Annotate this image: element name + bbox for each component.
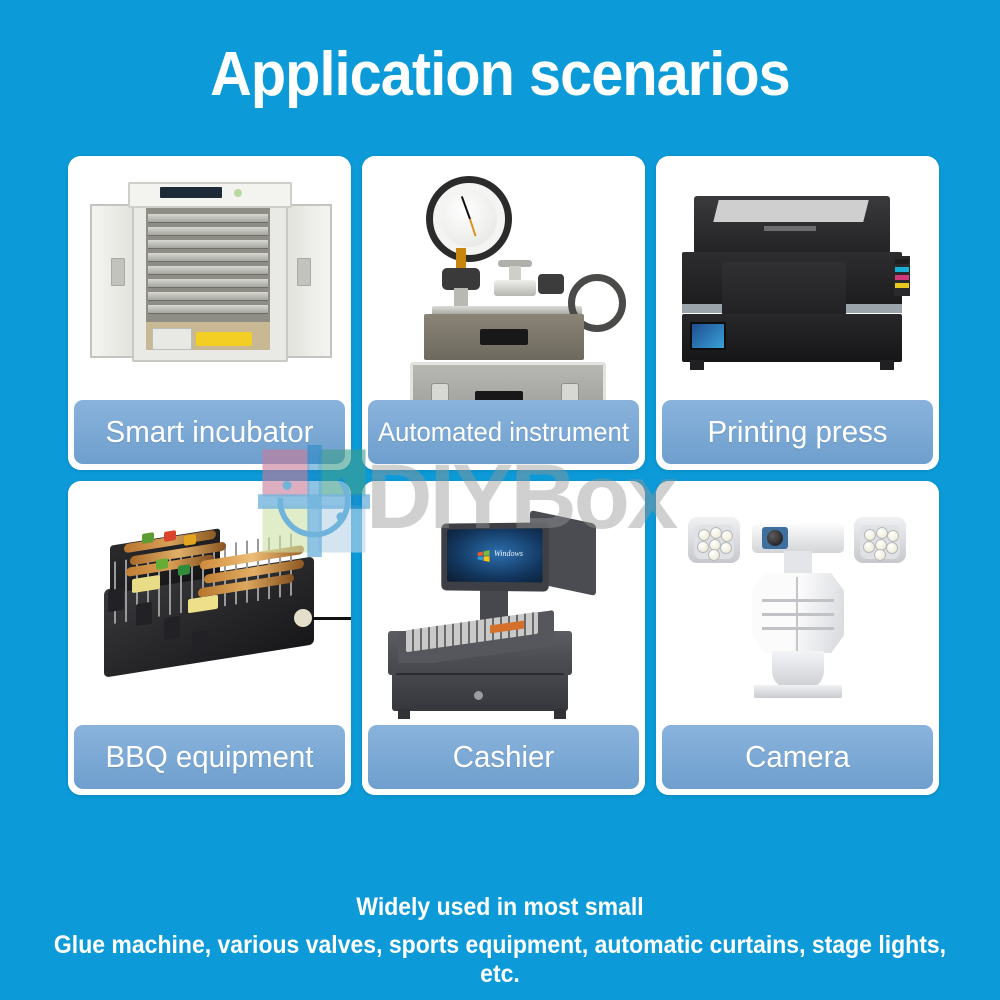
bbq-foot (136, 602, 152, 627)
pressure-gauge-icon (426, 176, 512, 262)
scenario-label-automated-instrument: Automated instrument (375, 417, 632, 448)
bbq-control-knob (294, 609, 312, 627)
footer-line-2: Glue machine, various valves, sports equ… (40, 931, 960, 989)
bbq-vegetable (142, 532, 154, 544)
gauge-needle (461, 196, 471, 219)
scenario-label-camera: Camera (669, 739, 926, 775)
scenario-card-automated-instrument[interactable]: Automated instrument (362, 156, 645, 470)
scenario-label-printing-press: Printing press (669, 414, 926, 450)
bbq-vegetable (184, 534, 196, 546)
camera-pan-base (772, 651, 824, 689)
camera-mount-plate (754, 685, 842, 698)
pos-screen-os-label: Windows (494, 549, 523, 558)
gauge-secondary-needle (469, 219, 476, 237)
instrument-nameplate-upper (480, 329, 528, 345)
scenario-card-smart-incubator[interactable]: Smart incubator (68, 156, 351, 470)
scenario-label-cashier: Cashier (375, 739, 632, 775)
scenario-card-bbq-equipment[interactable]: BBQ equipment (68, 481, 351, 795)
scenario-label-bbq-equipment: BBQ equipment (81, 739, 338, 775)
card-label-bar: Automated instrument (368, 400, 639, 464)
scenario-card-camera[interactable]: Camera (656, 481, 939, 795)
footer-line-1: Widely used in most small (40, 893, 960, 922)
incubator-control-panel (160, 187, 222, 198)
scenario-card-printing-press[interactable]: Printing press (656, 156, 939, 470)
gauge-stem (456, 248, 466, 270)
bbq-vegetable (156, 558, 168, 570)
card-label-bar: Printing press (662, 400, 933, 464)
incubator-vent-left (111, 258, 125, 286)
cash-drawer-lock-icon (474, 691, 483, 700)
printer-lcd-screen (690, 322, 726, 350)
card-label-bar: Camera (662, 725, 933, 789)
printer-ink-bay (894, 256, 910, 296)
bbq-vegetable (164, 530, 176, 542)
instrument-upper-body (424, 314, 584, 360)
camera-lens-icon (767, 530, 783, 546)
card-label-bar: BBQ equipment (74, 725, 345, 789)
bbq-foot (108, 588, 124, 613)
camera-left-led-panel (694, 525, 734, 559)
incubator-indicator-icon (234, 189, 242, 197)
cash-drawer[interactable] (392, 663, 568, 711)
cash-drawer-seam (396, 673, 564, 675)
pos-screen-display: Windows 7 (447, 529, 543, 583)
windows-logo-icon (476, 549, 491, 563)
gauge-mount-knob (442, 268, 480, 290)
incubator-yellow-tray (196, 332, 252, 346)
printer-window (713, 200, 868, 222)
bbq-vegetable (178, 564, 190, 576)
weight-platform (494, 280, 536, 296)
page-title: Application scenarios (35, 44, 965, 106)
card-label-bar: Smart incubator (74, 400, 345, 464)
incubator-water-tray (152, 328, 192, 350)
incubator-vent-right (297, 258, 311, 286)
scenario-label-smart-incubator: Smart incubator (81, 414, 338, 450)
printer-brand-mark (764, 226, 816, 231)
pos-main-screen: Windows 7 (441, 522, 548, 591)
scenario-card-cashier[interactable]: Windows 7 Cashier (362, 481, 645, 795)
camera-right-led-panel (860, 525, 900, 559)
camera-cable (796, 577, 798, 655)
gauge-face (441, 191, 497, 247)
bbq-foot (192, 630, 208, 655)
scenario-card-grid: Smart incubator (68, 156, 956, 795)
bbq-foot (164, 616, 180, 641)
instrument-valve (538, 274, 564, 294)
card-label-bar: Cashier (368, 725, 639, 789)
bbq-power-cord (312, 617, 351, 620)
